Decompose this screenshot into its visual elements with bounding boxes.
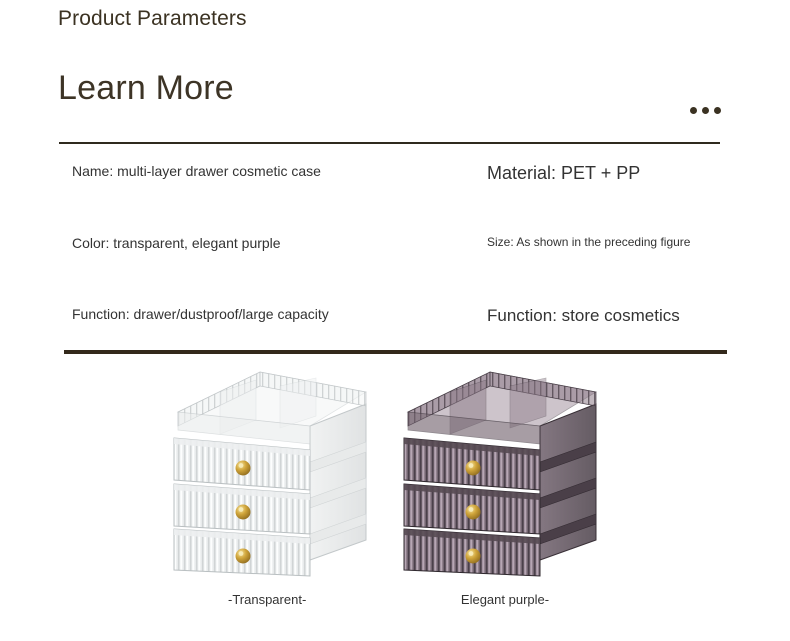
ellipsis-icon[interactable]: [690, 102, 730, 118]
ellipsis-dot: [690, 107, 697, 114]
product-card-transparent[interactable]: -Transparent-: [160, 364, 390, 641]
param-function-features: Function: drawer/dustproof/large capacit…: [72, 305, 329, 323]
learn-more-heading: Learn More: [58, 66, 234, 110]
page-title: Product Parameters: [58, 4, 258, 33]
divider-bottom: [64, 350, 727, 354]
divider-top: [59, 142, 720, 144]
product-image-elegant-purple: [390, 364, 620, 579]
product-card-elegant-purple[interactable]: Elegant purple-: [390, 364, 620, 641]
param-size: Size: As shown in the preceding figure: [487, 234, 690, 250]
ellipsis-dot: [702, 107, 709, 114]
param-name: Name: multi-layer drawer cosmetic case: [72, 162, 321, 180]
param-function-use: Function: store cosmetics: [487, 305, 680, 326]
param-material: Material: PET + PP: [487, 162, 640, 184]
ellipsis-dot: [714, 107, 721, 114]
product-parameters: Name: multi-layer drawer cosmetic case C…: [0, 150, 790, 345]
product-caption-transparent: -Transparent-: [228, 592, 338, 607]
product-image-transparent: [160, 364, 390, 579]
product-caption-elegant-purple: Elegant purple-: [390, 592, 620, 607]
param-color: Color: transparent, elegant purple: [72, 234, 281, 252]
product-gallery: -Transparent-: [0, 364, 790, 641]
